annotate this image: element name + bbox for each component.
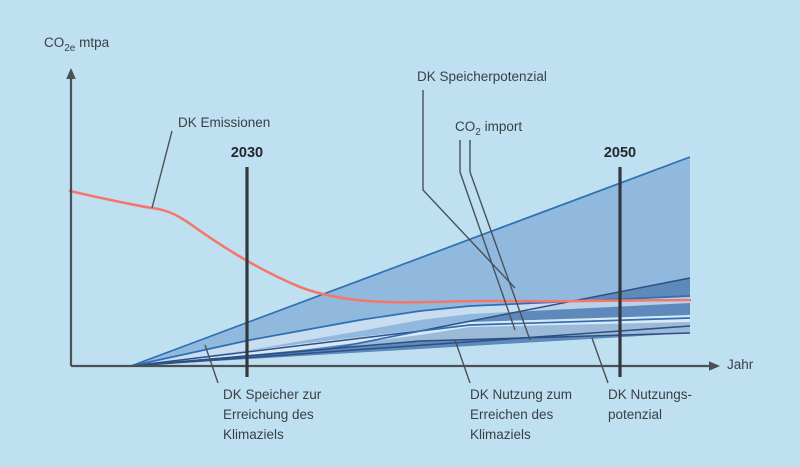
chart-container: 2030 2050 CO2e mtpa Jahr DK Emissionen D… [0,0,800,467]
label-nutzungspotenzial-line1: DK Nutzungs- [608,387,692,402]
year-marker-2030-label: 2030 [231,145,263,161]
label-nutzungspotenzial-line2: potenzial [608,407,662,422]
label-speicher-klima-line2: Erreichung des [223,407,314,422]
label-nutzung-klima-line1: DK Nutzung zum [470,387,572,402]
label-nutzung-klima-line2: Erreichen des [470,407,554,422]
label-co2-import-prefix: CO [455,119,475,134]
emissions-storage-area-chart: 2030 2050 CO2e mtpa Jahr DK Emissionen D… [0,0,800,467]
x-axis-label: Jahr [727,357,754,372]
label-co2-import-suffix: import [485,119,523,134]
label-nutzung-klima-line3: Klimaziels [470,427,531,442]
label-speicher-klima-line3: Klimaziels [223,427,284,442]
label-dk-speicherpotenzial: DK Speicherpotenzial [417,69,547,84]
label-speicher-klima-line1: DK Speicher zur [223,387,322,402]
y-axis-label-unit: mtpa [79,35,110,50]
y-axis-label-subscript: 2e [64,43,76,54]
y-axis-label-prefix: CO [44,35,64,50]
year-marker-2050-label: 2050 [604,145,636,161]
label-dk-emissionen: DK Emissionen [178,115,270,130]
